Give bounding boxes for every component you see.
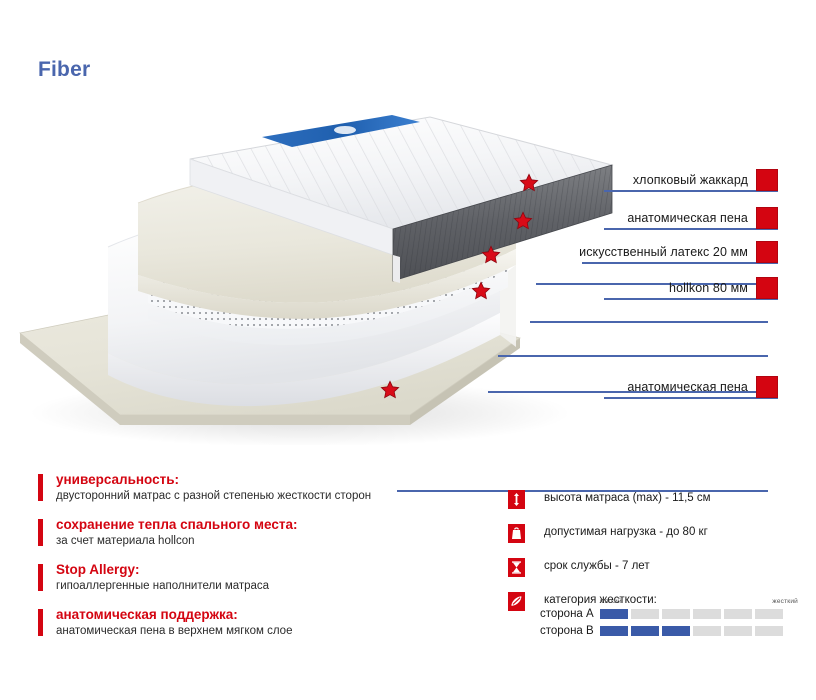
firmness-soft-label: мягкий bbox=[600, 598, 622, 605]
spec-text: высота матраса (max) - 11,5 см bbox=[544, 492, 711, 504]
product-infographic: Fiber bbox=[0, 0, 816, 700]
callout-underline bbox=[604, 228, 778, 230]
bullet-bar-icon bbox=[38, 519, 43, 546]
feature-item: Stop Allergy: гипоаллергенные наполнител… bbox=[38, 562, 468, 594]
spec-height: высота матраса (max) - 11,5 см bbox=[508, 490, 798, 514]
firmness-segment bbox=[693, 626, 721, 636]
callout-swatch bbox=[756, 241, 778, 263]
feature-subtext: гипоаллергенные наполнители матраса bbox=[56, 579, 468, 594]
callout-artificial-latex: искусственный латекс 20 мм bbox=[582, 238, 778, 264]
firmness-segment bbox=[724, 626, 752, 636]
firmness-segment bbox=[600, 626, 628, 636]
bullet-bar-icon bbox=[38, 609, 43, 636]
spec-text: допустимая нагрузка - до 80 кг bbox=[544, 526, 708, 538]
firmness-segment bbox=[724, 609, 752, 619]
firmness-segment bbox=[631, 626, 659, 636]
firmness-segment bbox=[631, 609, 659, 619]
firmness-segment bbox=[662, 626, 690, 636]
firmness-segment bbox=[755, 626, 783, 636]
callout-label: hollkon 80 мм bbox=[669, 281, 748, 295]
leader-line-3 bbox=[498, 355, 768, 357]
firmness-segment bbox=[693, 609, 721, 619]
hourglass-icon bbox=[508, 558, 525, 577]
marker-star-3 bbox=[481, 245, 501, 265]
firmness-hard-label: жесткий bbox=[772, 598, 798, 605]
marker-star-5 bbox=[380, 380, 400, 400]
marker-star-1 bbox=[519, 173, 539, 193]
feature-heading: анатомическая поддержка: bbox=[56, 607, 468, 623]
marker-star-4 bbox=[471, 281, 491, 301]
firmness-scale: мягкий жесткий сторона A сторона B bbox=[540, 598, 800, 642]
firmness-icon bbox=[508, 592, 525, 611]
callout-swatch bbox=[756, 169, 778, 191]
feature-subtext: за счет материала hollcon bbox=[56, 534, 468, 549]
feature-subtext: анатомическая пена в верхнем мягком слое bbox=[56, 624, 468, 639]
callout-hollkon: hollkon 80 мм bbox=[604, 274, 778, 300]
firmness-scale-ends: мягкий жесткий bbox=[540, 598, 800, 608]
callout-underline bbox=[604, 397, 778, 399]
callout-label: хлопковый жаккард bbox=[633, 173, 748, 187]
spec-lifespan: срок службы - 7 лет bbox=[508, 558, 798, 582]
feature-item: анатомическая поддержка: анатомическая п… bbox=[38, 607, 468, 639]
callout-anatomical-foam-bottom: анатомическая пена bbox=[604, 373, 778, 399]
firmness-side-label: сторона A bbox=[540, 608, 594, 620]
firmness-row-side-b: сторона B bbox=[540, 625, 800, 638]
feature-item: сохранение тепла спального места: за сче… bbox=[38, 517, 468, 549]
firmness-segment bbox=[662, 609, 690, 619]
feature-heading: сохранение тепла спального места: bbox=[56, 517, 468, 533]
callout-swatch bbox=[756, 376, 778, 398]
callout-label: анатомическая пена bbox=[627, 380, 748, 394]
feature-list: универсальность: двусторонний матрас с р… bbox=[38, 472, 468, 652]
feature-heading: универсальность: bbox=[56, 472, 468, 488]
firmness-segments-a bbox=[600, 609, 783, 619]
spec-load: допустимая нагрузка - до 80 кг bbox=[508, 524, 798, 548]
callout-cotton-jacquard: хлопковый жаккард bbox=[604, 166, 778, 192]
firmness-segments-b bbox=[600, 626, 783, 636]
firmness-segment bbox=[600, 609, 628, 619]
callout-underline bbox=[604, 298, 778, 300]
marker-star-2 bbox=[513, 211, 533, 231]
leader-line-2 bbox=[530, 321, 768, 323]
bullet-bar-icon bbox=[38, 564, 43, 591]
firmness-segment bbox=[755, 609, 783, 619]
callout-label: анатомическая пена bbox=[627, 211, 748, 225]
spec-text: срок службы - 7 лет bbox=[544, 560, 650, 572]
callout-underline bbox=[582, 262, 778, 264]
firmness-row-side-a: сторона A bbox=[540, 608, 800, 621]
callout-swatch bbox=[756, 277, 778, 299]
page-title: Fiber bbox=[38, 58, 90, 82]
firmness-side-label: сторона B bbox=[540, 625, 594, 637]
feature-subtext: двусторонний матрас с разной степенью же… bbox=[56, 489, 468, 504]
height-arrow-icon bbox=[508, 490, 525, 509]
bullet-bar-icon bbox=[38, 474, 43, 501]
feature-item: универсальность: двусторонний матрас с р… bbox=[38, 472, 468, 504]
callout-underline bbox=[604, 190, 778, 192]
callout-label: искусственный латекс 20 мм bbox=[579, 245, 748, 259]
callout-swatch bbox=[756, 207, 778, 229]
callout-anatomical-foam-top: анатомическая пена bbox=[604, 204, 778, 230]
feature-heading: Stop Allergy: bbox=[56, 562, 468, 578]
weight-load-icon bbox=[508, 524, 525, 543]
